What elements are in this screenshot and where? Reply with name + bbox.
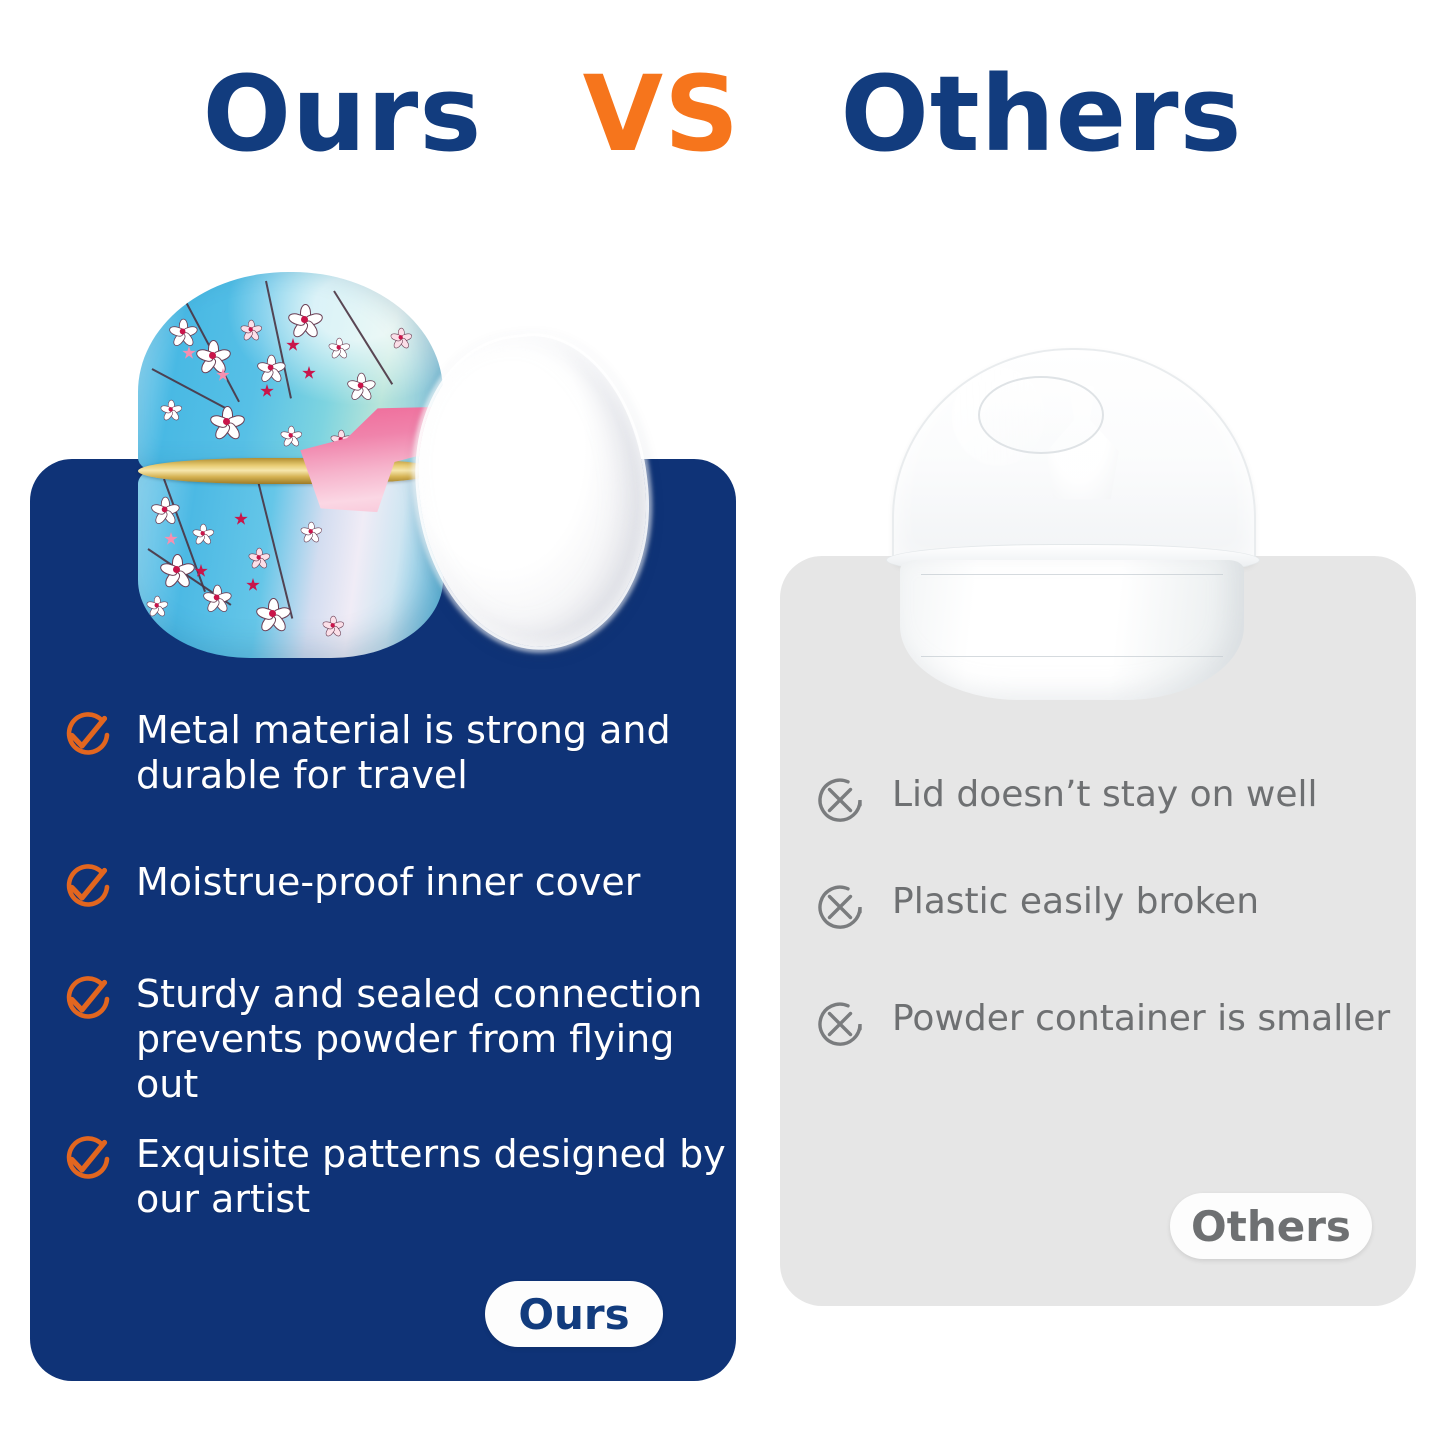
x-circle-icon <box>812 996 868 1052</box>
blossom-icon <box>203 583 231 611</box>
blossom-icon <box>347 371 375 399</box>
blossom-icon <box>146 594 167 615</box>
comparison-infographic: Ours VS Others <box>0 0 1445 1445</box>
blossom-icon <box>248 546 269 567</box>
list-item-label: Exquisite patterns designed by our artis… <box>136 1130 726 1222</box>
others-badge-label: Others <box>1191 1202 1351 1251</box>
metal-powder-jar <box>138 272 443 657</box>
list-item: Moistrue-proof inner cover <box>58 858 640 914</box>
list-item: Plastic easily broken <box>812 879 1259 935</box>
list-item-label: Powder container is smaller <box>892 996 1390 1040</box>
list-item-label: Lid doesn’t stay on well <box>892 772 1318 816</box>
jar-body <box>138 468 443 658</box>
list-item-label: Sturdy and sealed connection prevents po… <box>136 970 730 1106</box>
list-item: Powder container is smaller <box>812 996 1390 1052</box>
ours-product-image <box>120 252 665 672</box>
list-item-label: Plastic easily broken <box>892 879 1259 923</box>
blossom-icon <box>300 520 321 541</box>
check-circle-icon <box>58 970 114 1026</box>
blossom-icon <box>288 302 322 336</box>
clear-dome-lid <box>892 348 1256 567</box>
blossom-icon <box>322 614 343 635</box>
title-word-others: Others <box>841 53 1243 175</box>
blossom-icon <box>192 522 213 543</box>
list-item: Sturdy and sealed connection prevents po… <box>58 970 730 1106</box>
check-circle-icon <box>58 1130 114 1186</box>
jar-gold-band <box>138 458 443 484</box>
check-circle-icon <box>58 706 114 762</box>
blossom-icon <box>210 404 244 438</box>
ours-badge-label: Ours <box>518 1290 629 1339</box>
list-item-label: Moistrue-proof inner cover <box>136 858 640 905</box>
dome-top-circle <box>978 376 1104 454</box>
x-circle-icon <box>812 879 868 935</box>
blossom-icon <box>256 596 290 630</box>
title-word-vs: VS <box>583 53 740 175</box>
check-circle-icon <box>58 858 114 914</box>
blossom-icon <box>160 398 181 419</box>
blossom-icon <box>280 424 301 445</box>
x-circle-icon <box>812 772 868 828</box>
list-item: Exquisite patterns designed by our artis… <box>58 1130 726 1222</box>
page-title: Ours VS Others <box>0 62 1445 166</box>
blossom-icon <box>169 317 197 345</box>
blossom-icon <box>328 336 349 357</box>
others-badge: Others <box>1170 1193 1372 1259</box>
others-product-image <box>848 348 1296 700</box>
blossom-icon <box>151 495 179 523</box>
blossom-icon <box>160 552 194 586</box>
list-item: Metal material is strong and durable for… <box>58 706 671 798</box>
blossom-icon <box>240 318 261 339</box>
blossom-icon <box>196 338 230 372</box>
blossom-icon <box>390 326 411 347</box>
list-item-label: Metal material is strong and durable for… <box>136 706 671 798</box>
blossom-icon <box>257 353 285 381</box>
list-item: Lid doesn’t stay on well <box>812 772 1318 828</box>
title-word-ours: Ours <box>203 53 483 175</box>
ours-badge: Ours <box>485 1281 663 1347</box>
plastic-container-base <box>900 560 1244 700</box>
